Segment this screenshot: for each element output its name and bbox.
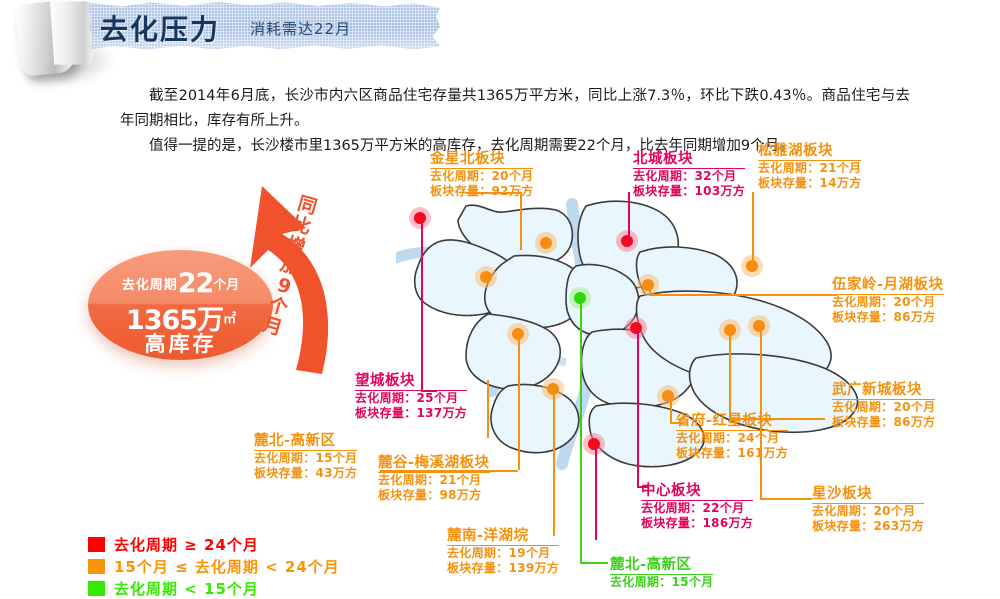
cycle-label: 去化周期： [758,161,820,175]
badge-cycle-label: 去化周期 [122,278,178,293]
callout-title: 麓北-高新区 [254,434,357,451]
legend-label-green: 去化周期 < 15个月 [114,578,259,599]
callout-title: 望城板块 [355,374,467,391]
legend-item-red: 去化周期 ≥ 24个月 [88,533,340,555]
map-marker-wujialing[interactable] [637,274,659,296]
cycle-value: 21个月 [820,161,862,175]
callout-stock: 板块存量：92万方 [430,184,533,199]
leader-shengfu [670,400,672,422]
stock-value: 161万方 [738,446,789,460]
cycle-value: 20个月 [894,295,936,309]
page-subtitle: 消耗需达22月 [250,18,351,39]
map-marker-shengfu[interactable] [657,385,679,407]
callout-title: 星沙板块 [812,487,924,504]
callout-stock: 板块存量：43万方 [254,466,357,481]
leader-wujialing [649,294,837,296]
callout-stock: 板块存量：263万方 [812,519,924,534]
cycle-label: 去化周期： [676,431,738,445]
callout-cycle: 去化周期：32个月 [633,169,745,184]
callout-stock: 板块存量：139万方 [447,561,559,576]
leader-songyahu [752,192,754,266]
callout-cycle: 去化周期：15个月 [254,451,357,466]
leader-zhongxin [637,330,639,486]
callout-stock: 板块存量：86万方 [832,310,944,325]
map-marker-lunan-red[interactable] [583,433,605,455]
stock-label: 板块存量： [430,184,492,198]
callout-cycle: 去化周期：20个月 [430,169,533,184]
callout-cycle: 去化周期：20个月 [832,295,944,310]
cycle-value: 19个月 [509,546,551,560]
cycle-label: 去化周期： [832,400,894,414]
cycle-value: 25个月 [417,391,459,405]
stock-value: 86万方 [894,310,936,324]
callout-stock: 板块存量：86万方 [832,415,935,430]
cycle-label: 去化周期： [641,501,703,515]
callout-lubei-gaoxin[interactable]: 麓北-高新区 去化周期：15个月 板块存量：43万方 [254,434,357,481]
callout-stock: 板块存量：186万方 [641,516,753,531]
callout-title: 省府-红星板块 [676,414,788,431]
callout-shengfu-hongxing[interactable]: 省府-红星板块 去化周期：24个月 板块存量：161万方 [676,414,788,461]
callout-jinxingbei[interactable]: 金星北板块 去化周期：20个月 板块存量：92万方 [430,152,533,199]
legend-swatch-green [88,581,105,596]
stock-value: 92万方 [492,184,534,198]
callout-stock: 板块存量：98万方 [378,488,490,503]
callout-zhongxin[interactable]: 中心板块 去化周期：22个月 板块存量：186万方 [641,484,753,531]
callout-cycle: 去化周期：21个月 [758,161,861,176]
leader-wuguang-v [729,334,731,418]
callout-songyahu[interactable]: 松雅湖板块 去化周期：21个月 板块存量：14万方 [758,144,861,191]
badge-cycle-value: 22 [178,268,214,299]
stock-value: 14万方 [820,176,862,190]
stock-label: 板块存量： [676,446,738,460]
cycle-label: 去化周期： [355,391,417,405]
callout-cycle: 去化周期：19个月 [447,546,559,561]
cycle-value: 21个月 [440,473,482,487]
cycle-label: 去化周期： [254,451,316,465]
callout-cycle: 去化周期：24个月 [676,431,788,446]
callout-wuguang[interactable]: 武广新城板块 去化周期：20个月 板块存量：86万方 [832,383,935,430]
stock-value: 186万方 [703,516,754,530]
callout-title: 松雅湖板块 [758,144,861,161]
leader-wangcheng [421,222,423,392]
callout-stock: 板块存量：137万方 [355,406,467,421]
map-marker-jinxingbei[interactable] [535,232,557,254]
page-title: 去化压力 [100,8,220,48]
stock-label: 板块存量： [633,184,695,198]
leader-lunan-red [595,448,597,540]
map-marker-beicheng[interactable] [616,230,638,252]
stock-value: 137万方 [417,406,468,420]
callout-cycle: 去化周期：25个月 [355,391,467,406]
cycle-value: 20个月 [894,400,936,414]
header-banner: 去化压力 消耗需达22月 [0,0,460,62]
callout-title: 麓北-高新区 [610,558,713,575]
callout-cycle: 去化周期：15个月 [610,575,713,590]
cycle-label: 去化周期： [812,504,874,518]
callout-title: 中心板块 [641,484,753,501]
callout-lubei-gaoxin-green[interactable]: 麓北-高新区 去化周期：15个月 [610,558,713,590]
cycle-label: 去化周期： [447,546,509,560]
stock-label: 板块存量： [447,561,509,575]
legend-label-orange: 15个月 ≤ 去化周期 < 24个月 [114,556,340,577]
map-marker-xingsha[interactable] [748,315,770,337]
leader-wujialing-v [649,287,651,295]
cycle-value: 15个月 [316,451,358,465]
legend-item-orange: 15个月 ≤ 去化周期 < 24个月 [88,555,340,577]
legend-item-green: 去化周期 < 15个月 [88,577,340,599]
stock-value: 86万方 [894,415,936,429]
leader-lugu [518,338,520,470]
stock-value: 98万方 [440,488,482,502]
district-map [396,196,896,496]
callout-lugu-meixihu[interactable]: 麓谷-梅溪湖板块 去化周期：21个月 板块存量：98万方 [378,456,490,503]
map-marker-wangcheng-pt[interactable] [475,266,497,288]
stock-value: 139万方 [509,561,560,575]
cycle-label: 去化周期： [832,295,894,309]
callout-title: 麓南-洋湖垸 [447,529,559,546]
callout-stock: 板块存量：14万方 [758,176,861,191]
legend-label-red: 去化周期 ≥ 24个月 [114,534,259,555]
intro-paragraph-1: 截至2014年6月底，长沙市内六区商品住宅存量共1365万平方米，同比上涨7.3… [120,84,910,134]
stock-label: 板块存量： [832,310,894,324]
leader-green [580,300,582,562]
callout-stock: 板块存量：103万方 [633,184,745,199]
legend-swatch-orange [88,559,105,574]
cycle-label: 去化周期： [633,169,695,183]
stock-value: 263万方 [874,519,925,533]
leader-lunan [553,392,555,536]
callout-title: 麓谷-梅溪湖板块 [378,456,490,473]
callout-beicheng[interactable]: 北城板块 去化周期：32个月 板块存量：103万方 [633,152,745,199]
map-marker-wangcheng[interactable] [409,207,431,229]
leader-xingsha-h [760,498,812,500]
callout-stock: 板块存量：161万方 [676,446,788,461]
callout-title: 伍家岭-月湖板块 [832,278,944,295]
cycle-value: 24个月 [738,431,780,445]
cycle-label: 去化周期： [378,473,440,487]
district-lunan [491,385,579,453]
callout-title: 武广新城板块 [832,383,935,400]
stock-label: 板块存量： [254,466,316,480]
callout-wujialing[interactable]: 伍家岭-月湖板块 去化周期：20个月 板块存量：86万方 [832,278,944,325]
callout-cycle: 去化周期：20个月 [832,400,935,415]
cycle-value: 22个月 [703,501,745,515]
cycle-value: 20个月 [492,169,534,183]
stock-value: 43万方 [316,466,358,480]
callout-title: 金星北板块 [430,152,533,169]
leader-beicheng [628,192,630,242]
callout-cycle: 去化周期：20个月 [812,504,924,519]
callout-cycle: 去化周期：21个月 [378,473,490,488]
callout-wangcheng[interactable]: 望城板块 去化周期：25个月 板块存量：137万方 [355,374,467,421]
cycle-value: 32个月 [695,169,737,183]
stock-label: 板块存量： [355,406,417,420]
stock-label: 板块存量： [378,488,440,502]
legend-swatch-red [88,537,105,552]
paper-curl-edge [50,0,95,67]
callout-cycle: 去化周期：22个月 [641,501,753,516]
leader-green-h [580,562,608,564]
stock-label: 板块存量： [641,516,703,530]
callout-xingsha[interactable]: 星沙板块 去化周期：20个月 板块存量：263万方 [812,487,924,534]
stock-label: 板块存量： [758,176,820,190]
leader-jinxingbei [520,192,522,250]
cycle-value: 15个月 [672,575,714,589]
leader-lubei-hx [487,380,489,438]
cycle-value: 20个月 [874,504,916,518]
callout-title: 北城板块 [633,152,745,169]
legend: 去化周期 ≥ 24个月 15个月 ≤ 去化周期 < 24个月 去化周期 < 15… [88,533,340,599]
map-marker-zhongxin[interactable] [625,317,647,339]
callout-lunan-yanghuwan[interactable]: 麓南-洋湖垸 去化周期：19个月 板块存量：139万方 [447,529,559,576]
stock-label: 板块存量： [812,519,874,533]
cycle-label: 去化周期： [430,169,492,183]
stock-value: 103万方 [695,184,746,198]
stock-label: 板块存量： [832,415,894,429]
cycle-label: 去化周期： [610,575,672,589]
